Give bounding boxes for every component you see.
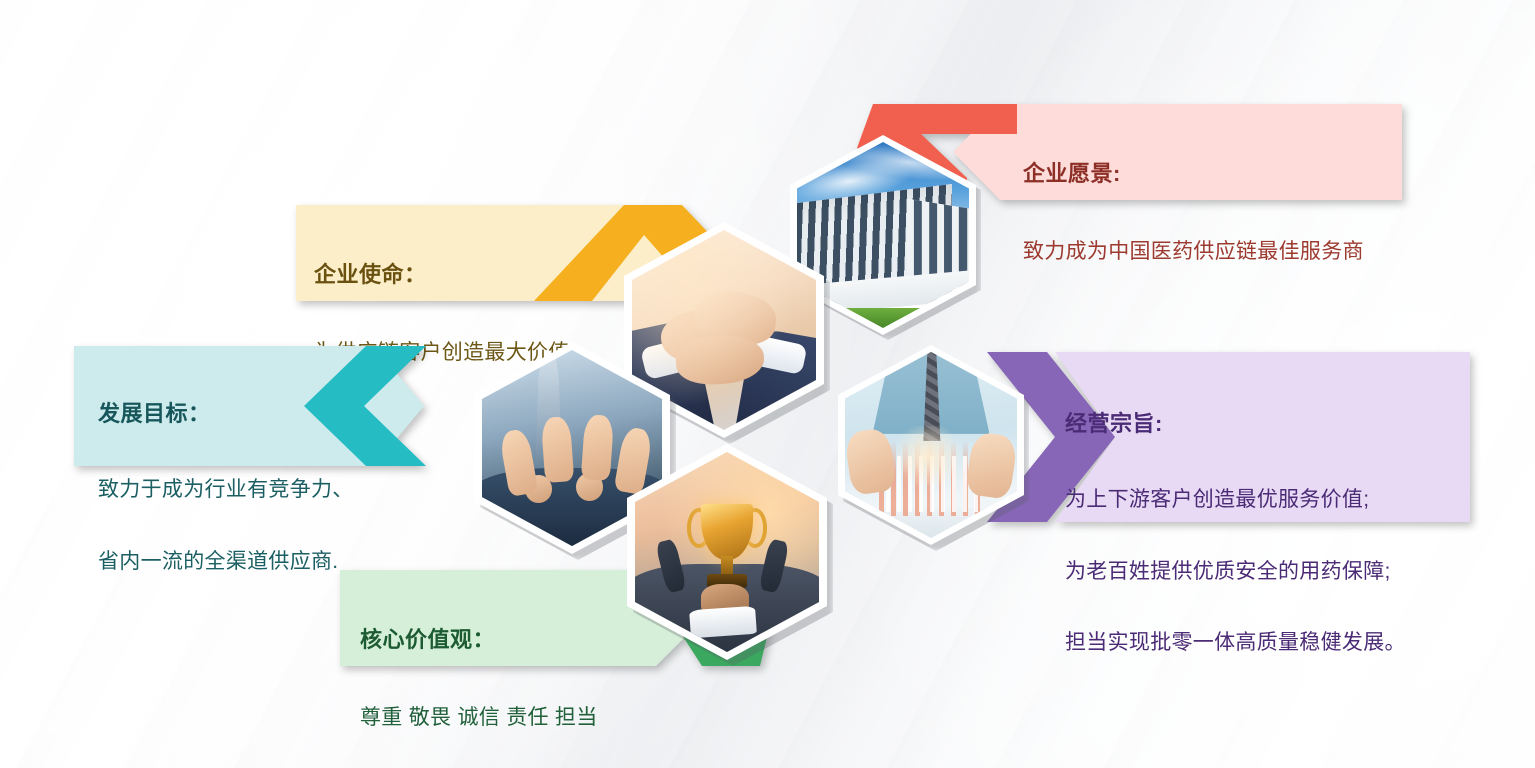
banner-purpose-line-1: 为上下游客户创造最优服务价值; xyxy=(1065,486,1406,514)
business-chart-photo xyxy=(845,352,1017,538)
banner-goal[interactable]: 发展目标： 致力于成为行业有竞争力、 省内一流的全渠道供应商. xyxy=(74,346,474,466)
banner-purpose-line-2: 为老百姓提供优质安全的用药保障; xyxy=(1065,558,1406,586)
banner-vision-title: 企业愿景: xyxy=(1023,159,1364,189)
trophy-celebration-photo xyxy=(635,452,819,652)
banner-purpose-line-3: 担当实现批零一体高质量稳健发展。 xyxy=(1065,629,1406,657)
hex-trophy-image xyxy=(635,452,819,652)
banner-purpose-text: 经营宗旨: 为上下游客户创造最优服务价值; 为老百姓提供优质安全的用药保障; 担… xyxy=(1065,366,1406,701)
banner-vision-text: 企业愿景: 致力成为中国医药供应链最佳服务商 xyxy=(1023,116,1364,310)
hex-chart-image xyxy=(845,352,1017,538)
banner-goal-title: 发展目标： xyxy=(98,399,354,429)
banner-purpose[interactable]: 经营宗旨: 为上下游客户创造最优服务价值; 为老百姓提供优质安全的用药保障; 担… xyxy=(975,352,1470,522)
infographic-canvas: 企业愿景: 致力成为中国医药供应链最佳服务商 企业使命： 为供应链客户创造最大价… xyxy=(0,0,1535,768)
banner-goal-text: 发展目标： 致力于成为行业有竞争力、 省内一流的全渠道供应商. xyxy=(98,356,354,619)
banner-goal-line-2: 省内一流的全渠道供应商. xyxy=(98,548,354,576)
banner-vision-line-1: 致力成为中国医药供应链最佳服务商 xyxy=(1023,238,1364,266)
banner-goal-line-1: 致力于成为行业有竞争力、 xyxy=(98,476,354,504)
banner-values-text: 核心价值观： 尊重 敬畏 诚信 责任 担当 xyxy=(360,582,598,768)
banner-purpose-title: 经营宗旨: xyxy=(1065,409,1406,439)
banner-values-line-1: 尊重 敬畏 诚信 责任 担当 xyxy=(360,704,598,732)
banner-values-title: 核心价值观： xyxy=(360,625,598,655)
banner-mission-title: 企业使命： xyxy=(314,260,570,290)
